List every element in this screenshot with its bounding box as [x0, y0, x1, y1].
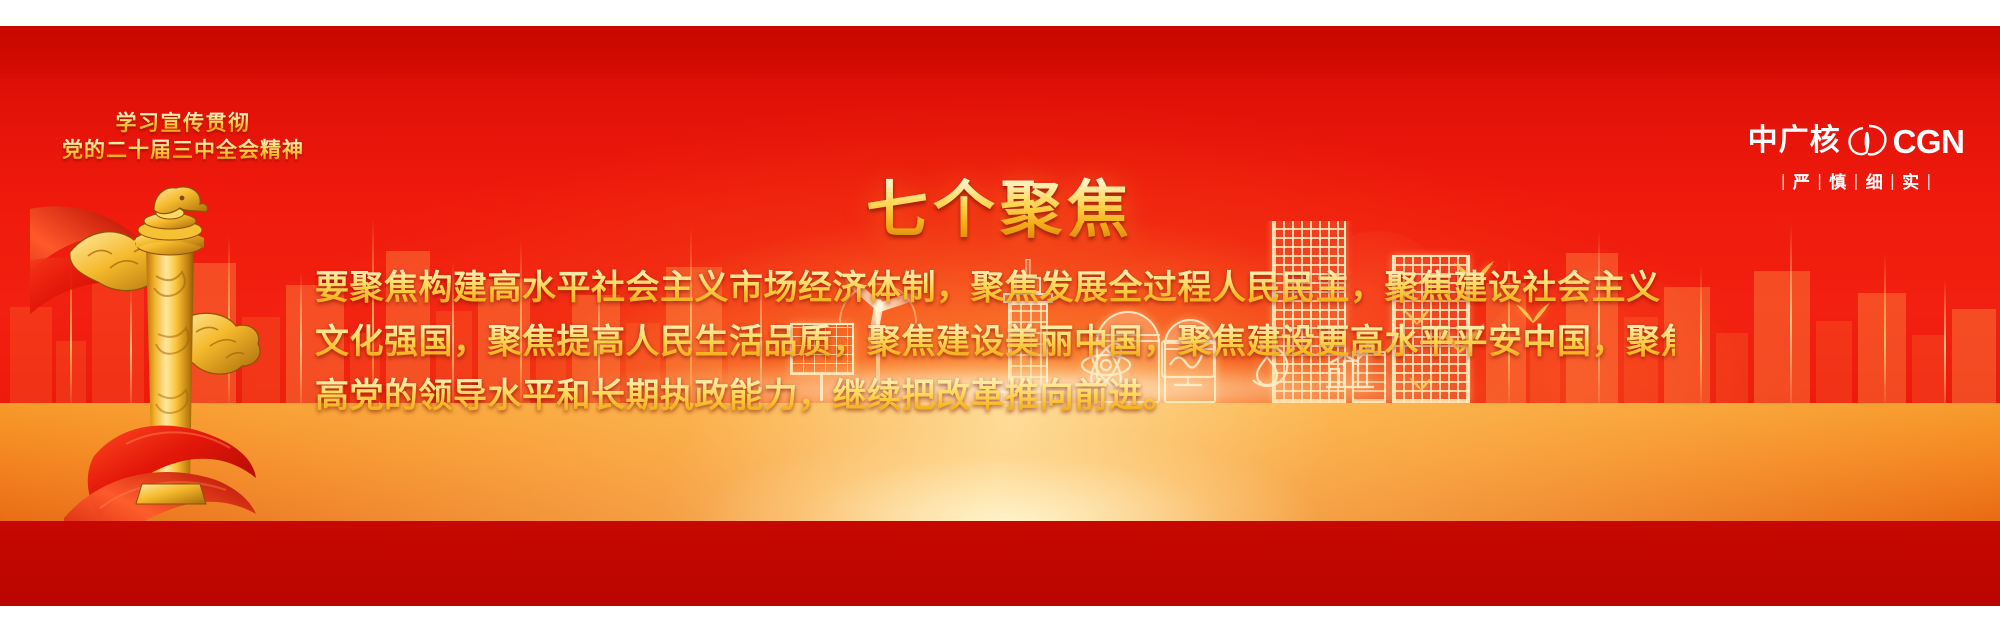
tagline-separator-3: |	[1890, 171, 1895, 190]
body-line-2: 文化强国，聚焦提高人民生活品质，聚焦建设美丽中国，聚焦建设更高水平平安中国，聚焦…	[315, 315, 1675, 369]
tagline-separator-0: |	[1781, 171, 1786, 190]
body-line-3: 高党的领导水平和长期执政能力，继续把改革推向前进。	[315, 369, 1675, 423]
bottom-margin	[0, 606, 2000, 625]
page-title: 七个聚焦	[0, 159, 2000, 249]
body-copy: 要聚焦构建高水平社会主义市场经济体制，聚焦发展全过程人民民主，聚焦建设社会主义 …	[315, 261, 1675, 423]
tagline-word-2: 细	[1866, 168, 1883, 193]
campaign-slogan: 学习宣传贯彻 党的二十届三中全会精神	[58, 110, 308, 164]
tagline-word-1: 慎	[1829, 168, 1846, 193]
tagline-word-0: 严	[1793, 168, 1810, 193]
tagline-separator-2: |	[1853, 171, 1858, 190]
tagline-separator-1: |	[1817, 171, 1822, 190]
logo-chinese-name: 中广核	[1748, 126, 1841, 156]
top-dark-strip	[0, 26, 2000, 78]
title-text: 七个聚焦	[866, 173, 1134, 246]
propaganda-banner: 学习宣传贯彻 党的二十届三中全会精神 七个聚焦 要聚焦构建高水平社会主义市场经济…	[0, 0, 2000, 625]
slogan-line-1: 学习宣传贯彻	[58, 110, 308, 137]
cgn-swoosh-icon	[1845, 124, 1889, 158]
tagline-word-3: 实	[1902, 168, 1919, 193]
body-line-1: 要聚焦构建高水平社会主义市场经济体制，聚焦发展全过程人民民主，聚焦建设社会主义	[315, 261, 1675, 315]
cgn-logo: 中广核 CGN | 严 | 慎 | 细 | 实 |	[1740, 121, 1972, 193]
logo-english-name: CGN	[1893, 125, 1965, 158]
tagline-separator-4: |	[1926, 171, 1931, 190]
banner-red-field: 学习宣传贯彻 党的二十届三中全会精神 七个聚焦 要聚焦构建高水平社会主义市场经济…	[0, 26, 2000, 606]
logo-tagline: | 严 | 慎 | 细 | 实 |	[1740, 168, 1972, 193]
top-margin	[0, 0, 2000, 26]
bottom-plinth	[0, 521, 2000, 606]
